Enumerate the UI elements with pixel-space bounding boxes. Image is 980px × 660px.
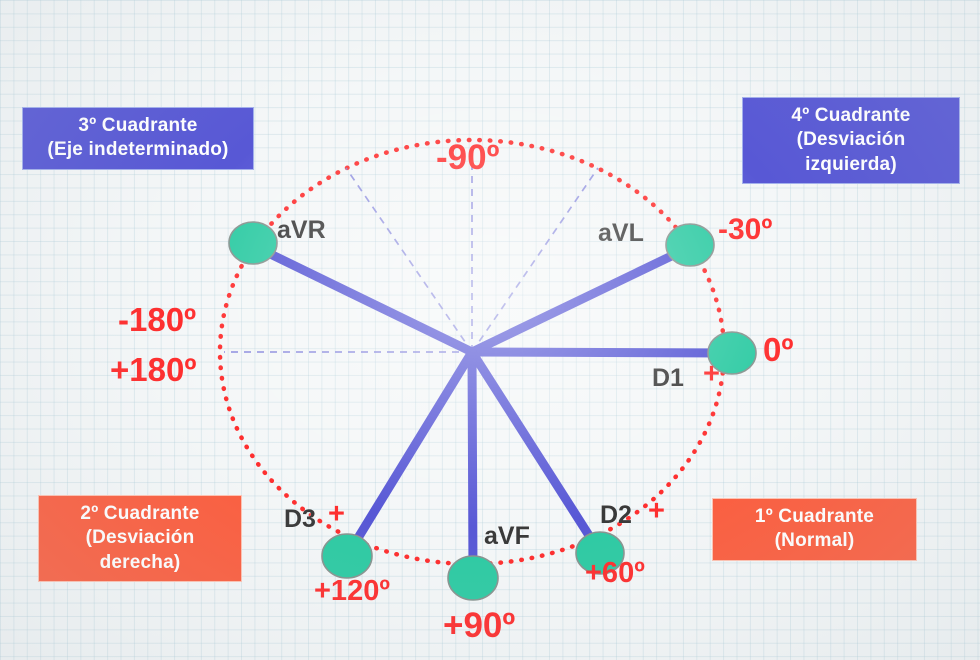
quadrant-3-subtitle: (Eje indeterminado) (33, 138, 243, 162)
quadrant-1-title: 1º Cuadrante (723, 505, 906, 529)
quadrant-4-subtitle: (Desviación izquierda) (753, 128, 949, 177)
axis-D1 (472, 352, 728, 353)
quadrant-3-title: 3º Cuadrante (33, 114, 243, 138)
node-D3[interactable] (322, 534, 372, 578)
polarity-plus-D2: + (648, 497, 665, 526)
axis-D3 (350, 352, 472, 551)
node-aVF[interactable] (448, 556, 498, 600)
angle-label-plus90: +90º (443, 608, 515, 643)
quadrant-box-2: 2º Cuadrante (Desviación derecha) (38, 495, 242, 582)
angle-label-plus120: +120º (314, 577, 390, 606)
quadrant-box-4: 4º Cuadrante (Desviación izquierda) (742, 97, 960, 184)
quadrant-1-subtitle: (Normal) (723, 529, 906, 553)
lead-label-aVR: aVR (277, 216, 326, 245)
axis-D2 (472, 352, 597, 548)
quadrant-box-3: 3º Cuadrante (Eje indeterminado) (22, 107, 254, 170)
angle-label-minus180: -180º (118, 303, 196, 336)
axis-aVF (472, 352, 473, 573)
node-aVL[interactable] (666, 224, 714, 266)
polarity-plus-D3: + (328, 500, 345, 529)
polarity-plus-D1: + (703, 360, 720, 389)
diagram-canvas: 3º Cuadrante (Eje indeterminado) 4º Cuad… (0, 0, 980, 660)
angle-label-plus180: +180º (110, 353, 196, 386)
axis-aVL (472, 249, 686, 352)
lead-label-aVF: aVF (484, 522, 530, 551)
quadrant-2-title: 2º Cuadrante (49, 502, 231, 526)
lead-label-D3: D3 (284, 505, 316, 534)
lead-label-D1: D1 (652, 364, 684, 393)
quadrant-4-title: 4º Cuadrante (753, 104, 949, 128)
lead-label-D2: D2 (600, 501, 632, 530)
quadrant-2-subtitle: (Desviación derecha) (49, 526, 231, 575)
angle-label-minus30: -30º (718, 215, 772, 245)
angle-label-minus90: -90º (436, 140, 499, 175)
angle-label-0: 0º (763, 333, 793, 366)
quadrant-box-1: 1º Cuadrante (Normal) (712, 498, 917, 561)
axis-aVR (258, 248, 472, 352)
node-aVR[interactable] (229, 222, 277, 264)
angle-label-plus60: +60º (585, 559, 645, 588)
lead-label-aVL: aVL (598, 219, 644, 248)
